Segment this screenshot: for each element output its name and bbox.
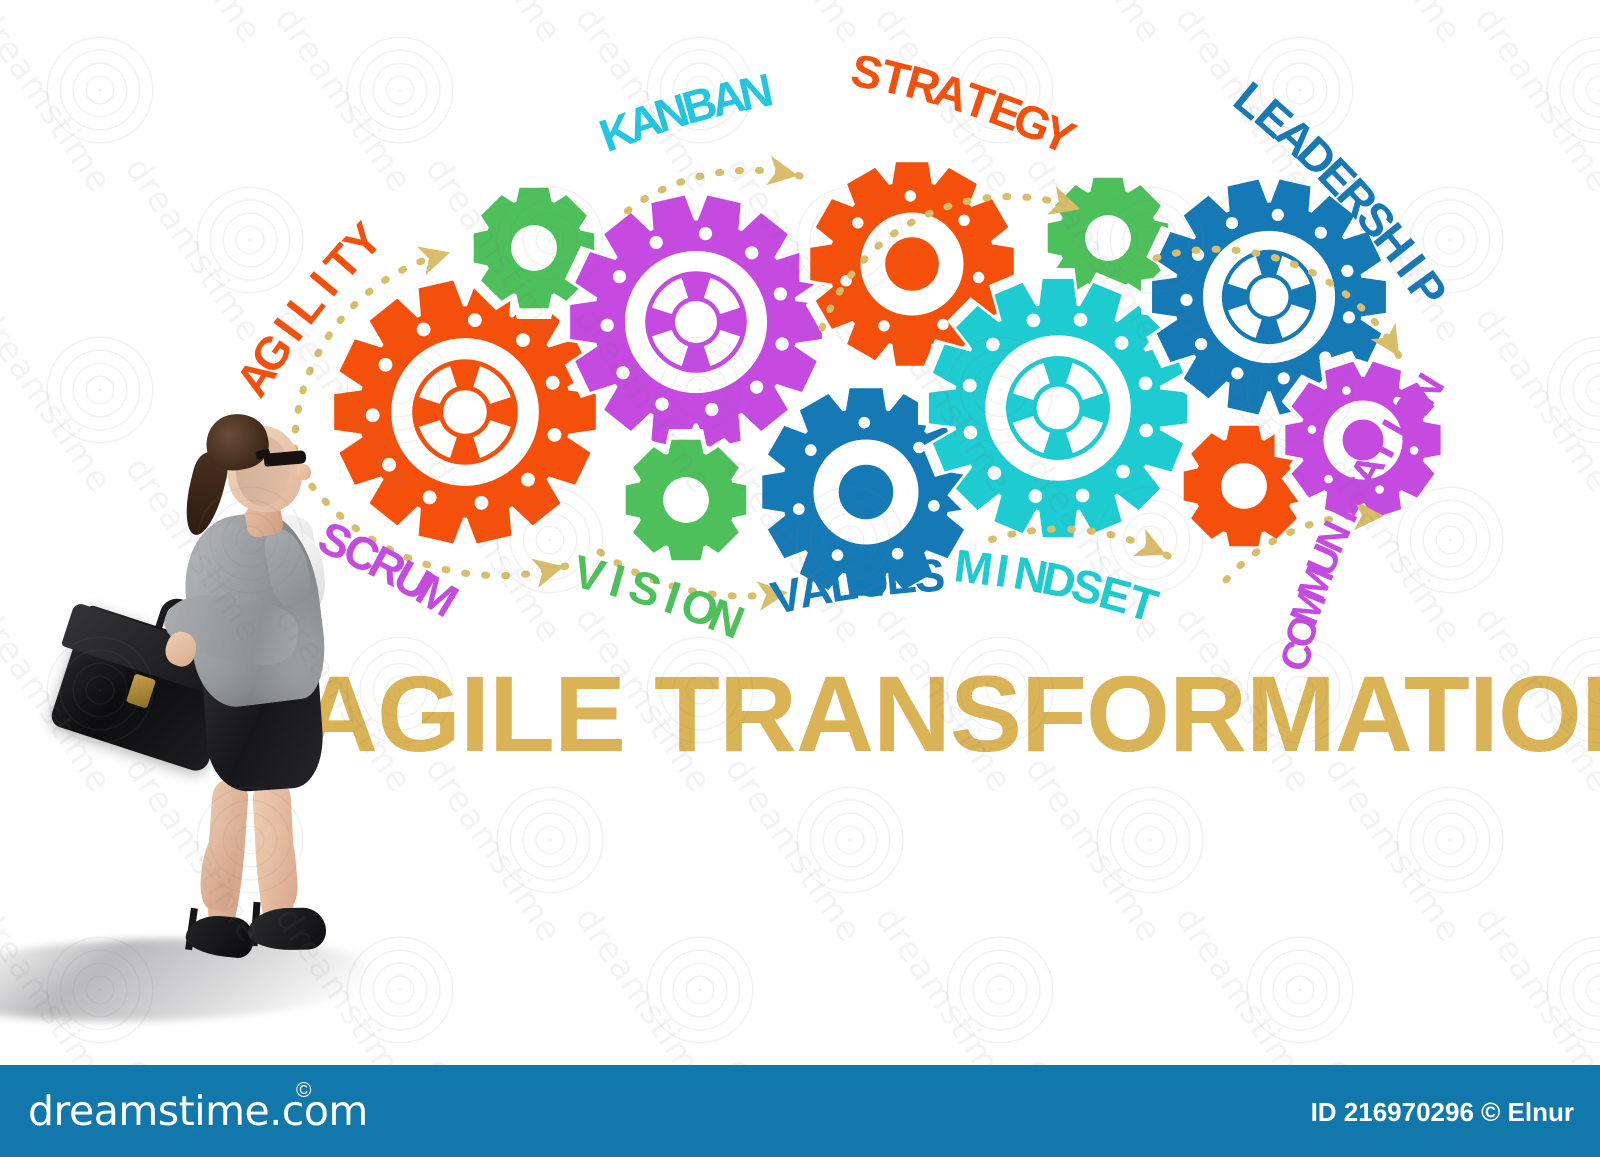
gear-kanban-magenta-bolt-hole xyxy=(745,246,758,259)
gear-agility-orange-bolt-hole xyxy=(423,491,437,505)
gear-mindset-teal-bolt-hole xyxy=(1074,313,1088,327)
gear-leadership-blue-bolt-hole xyxy=(1231,367,1243,379)
gear-leadership-blue-bolt-hole xyxy=(1195,338,1207,350)
gear-agility-orange-bolt-hole xyxy=(475,496,489,510)
gear-small-green-vision-hub xyxy=(663,477,709,523)
gear-kanban-magenta-bolt-hole xyxy=(616,366,629,379)
gear-strategy-orange-hub-center xyxy=(885,237,939,291)
gear-values-blue-bolt-hole xyxy=(859,417,871,429)
gear-small-green-strategy-hub xyxy=(1085,215,1131,261)
gear-agility-orange-bolt-hole xyxy=(468,313,482,327)
gear-strategy-orange-bolt-hole xyxy=(878,320,889,331)
gear-communication-magenta-bolt-hole xyxy=(1308,425,1317,434)
gear-mindset-teal-bolt-hole xyxy=(1027,314,1041,328)
gear-mindset-teal-bolt-hole xyxy=(963,379,977,393)
gear-leadership-blue-bolt-hole xyxy=(1341,265,1353,277)
gear-communication-magenta-bolt-hole xyxy=(1342,386,1351,395)
gear-values-blue-hub-center xyxy=(839,465,894,520)
arrow-scrum-to-vision-head xyxy=(531,552,567,588)
gear-kanban-magenta-bolt-hole xyxy=(750,381,763,394)
gear-leadership-blue-bolt-hole xyxy=(1272,209,1284,221)
gear-agility-orange-bolt-hole xyxy=(382,458,396,472)
dreamstime-logo: dreamstime.com xyxy=(28,1087,368,1135)
gear-leadership-blue-bolt-hole xyxy=(1180,294,1192,306)
gear-kanban-magenta-bolt-hole xyxy=(655,398,668,411)
gear-mindset-teal-bolt-hole xyxy=(1139,424,1153,438)
keyword-letter: V xyxy=(568,545,611,603)
gear-values-blue-bolt-hole xyxy=(793,503,805,515)
keyword-letter: S xyxy=(623,559,668,618)
gear-small-orange-right-hub xyxy=(1221,463,1267,509)
gear-mindset-teal-bolt-hole xyxy=(1139,377,1153,391)
gear-kanban-magenta-bolt-hole xyxy=(699,227,712,240)
gear-agility-orange-bolt-hole xyxy=(548,428,562,442)
gear-agility-orange-bolt-hole xyxy=(546,376,560,390)
gear-strategy-orange-bolt-hole xyxy=(905,190,916,201)
gear-agility-orange-bolt-hole xyxy=(516,333,530,347)
gear-agility-orange-hub-core xyxy=(443,390,487,434)
gear-leadership-blue-bolt-hole xyxy=(1278,372,1290,384)
gear-agility-orange-bolt-hole xyxy=(379,358,393,372)
gear-agility-orange-bolt-hole xyxy=(366,408,380,422)
gear-agility-orange-bolt-hole xyxy=(417,323,431,337)
keyword-kanban: KANBAN xyxy=(591,59,781,163)
gear-kanban-magenta-bolt-hole xyxy=(774,287,787,300)
nose xyxy=(297,464,311,480)
gear-kanban-magenta-bolt-hole xyxy=(705,403,718,416)
gear-leadership-blue-bolt-hole xyxy=(1226,217,1238,229)
gear-strategy-orange-bolt-hole xyxy=(973,272,984,283)
gear-kanban-magenta-bolt-hole xyxy=(650,236,663,249)
gear-kanban-magenta-bolt-hole xyxy=(613,270,626,283)
gear-mindset-teal-bolt-hole xyxy=(964,426,978,440)
gear-communication-magenta-bolt-hole xyxy=(1410,446,1419,455)
gear-small-green-top-left-hub xyxy=(511,225,557,271)
gear-small-green-vision xyxy=(615,429,757,571)
gear-kanban-magenta-bolt-hole xyxy=(776,337,789,350)
gear-strategy-orange-bolt-hole xyxy=(852,217,863,228)
page-title: AGILE TRANSFORMATION xyxy=(300,660,1600,768)
keyword-letter: M xyxy=(951,539,996,595)
gear-leadership-blue-bolt-hole xyxy=(1343,311,1355,323)
keyword-letter: I xyxy=(992,544,1013,597)
image-id-credit: ID 216970296 © Elnur xyxy=(1311,1097,1574,1128)
gear-mindset-teal-bolt-hole xyxy=(1076,489,1090,503)
gear-mindset-teal-bolt-hole xyxy=(988,466,1002,480)
gear-kanban-magenta-hub-core xyxy=(675,301,717,343)
gear-mindset-teal-bolt-hole xyxy=(1116,465,1130,479)
arrow-agility-to-kanban-head xyxy=(417,238,454,275)
gear-values-blue-bolt-hole xyxy=(928,500,940,512)
stock-footer-bar: dreamstime.com © ID 216970296 © Elnur xyxy=(0,1065,1600,1157)
gear-agility-orange-bolt-hole xyxy=(521,473,535,487)
businesswoman-photo xyxy=(60,408,360,968)
arrow-kanban-to-magenta-head xyxy=(766,156,801,191)
gear-communication-magenta-bolt-hole xyxy=(1324,475,1333,484)
gear-mindset-teal-bolt-hole xyxy=(1115,336,1129,350)
gear-values-blue-bolt-hole xyxy=(805,444,817,456)
keyword-letter: S xyxy=(913,549,947,603)
gear-leadership-blue-bolt-hole xyxy=(1315,227,1327,239)
gear-strategy-orange-bolt-hole xyxy=(937,319,948,330)
keyword-strategy: STRATEGY xyxy=(842,35,1086,166)
gear-leadership-blue-hub-core xyxy=(1250,278,1289,317)
gear-mindset-teal-bolt-hole xyxy=(1029,489,1043,503)
registered-mark-icon: © xyxy=(296,1079,311,1103)
arrow-mindset-back-head xyxy=(1133,529,1173,569)
gear-mindset-teal-hub-core xyxy=(1037,387,1080,430)
illustration-canvas: AGILITYKANBANSTRATEGYLEADERSHIPSCRUMVISI… xyxy=(0,0,1600,1157)
gear-strategy-orange-bolt-hole xyxy=(958,215,969,226)
gear-kanban-magenta-bolt-hole xyxy=(601,319,614,332)
gear-kanban-magenta xyxy=(559,185,833,460)
gear-mindset-teal-bolt-hole xyxy=(986,338,1000,352)
